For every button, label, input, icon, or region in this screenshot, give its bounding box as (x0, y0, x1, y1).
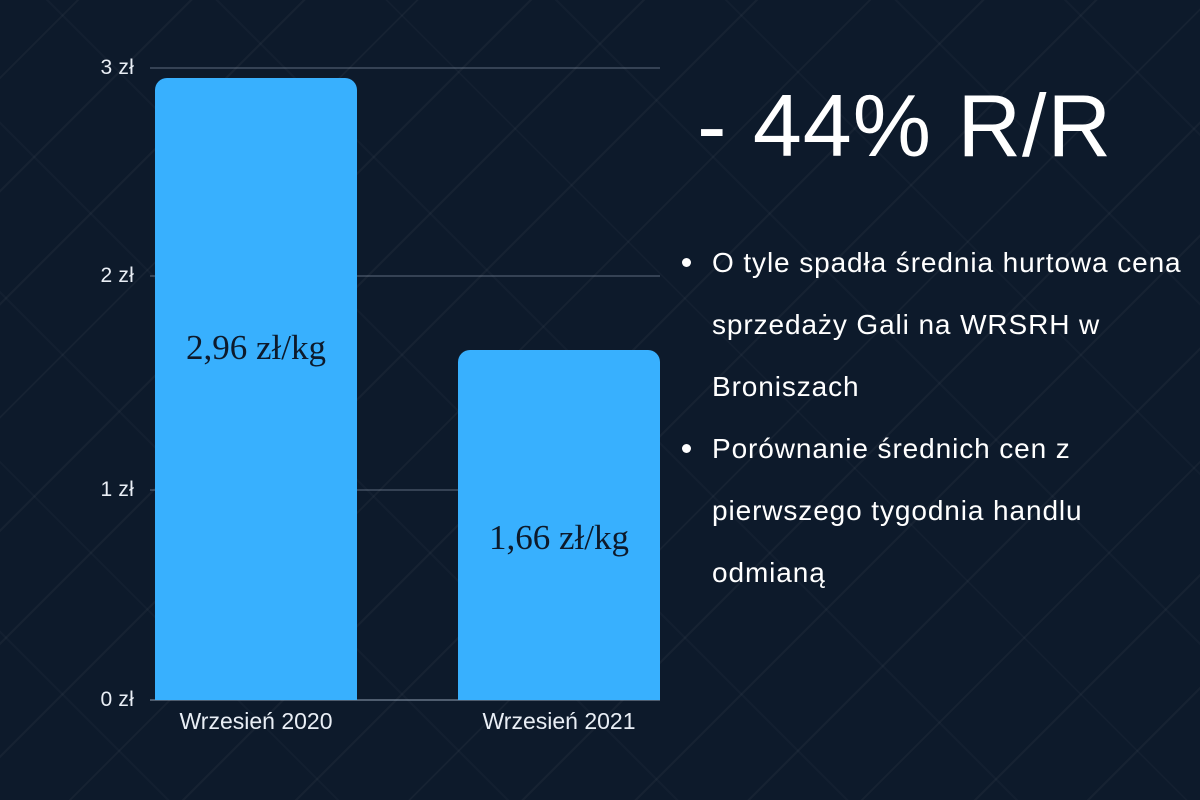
bar-value-label-0: 2,96 zł/kg (155, 328, 357, 368)
y-axis-tick-label-0: 0 zł (101, 688, 134, 712)
infographic-root: 3 zł 2 zł 1 zł 0 zł 2,96 zł/kg Wrzesień … (0, 0, 1200, 800)
bullet-item-0: O tyle spadła średnia hurtowa cena sprze… (712, 232, 1192, 418)
y-axis-tick-label-3: 3 zł (101, 56, 134, 80)
bar-wrzesien-2021[interactable]: 1,66 zł/kg (458, 350, 660, 700)
bar-value-label-1: 1,66 zł/kg (458, 518, 660, 558)
bar-wrzesien-2020[interactable]: 2,96 zł/kg (155, 78, 357, 700)
bullet-item-1: Porównanie średnich cen z pierwszego tyg… (712, 418, 1192, 604)
y-axis-tick-label-1: 1 zł (101, 478, 134, 502)
gridline-3 (150, 68, 660, 69)
headline-percent-change: - 44% R/R (697, 82, 1112, 170)
bullet-dot-icon (682, 444, 691, 453)
bullet-list: O tyle spadła średnia hurtowa cena sprze… (672, 232, 1192, 604)
bullet-text-0: O tyle spadła średnia hurtowa cena sprze… (712, 247, 1182, 402)
y-axis-tick-label-2: 2 zł (101, 264, 134, 288)
bullet-text-1: Porównanie średnich cen z pierwszego tyg… (712, 433, 1083, 588)
bar-chart: 3 zł 2 zł 1 zł 0 zł 2,96 zł/kg Wrzesień … (0, 0, 680, 800)
info-panel: - 44% R/R O tyle spadła średnia hurtowa … (640, 0, 1200, 800)
x-axis-category-label-0: Wrzesień 2020 (155, 708, 357, 735)
bullet-dot-icon (682, 258, 691, 267)
x-axis-category-label-1: Wrzesień 2021 (458, 708, 660, 735)
